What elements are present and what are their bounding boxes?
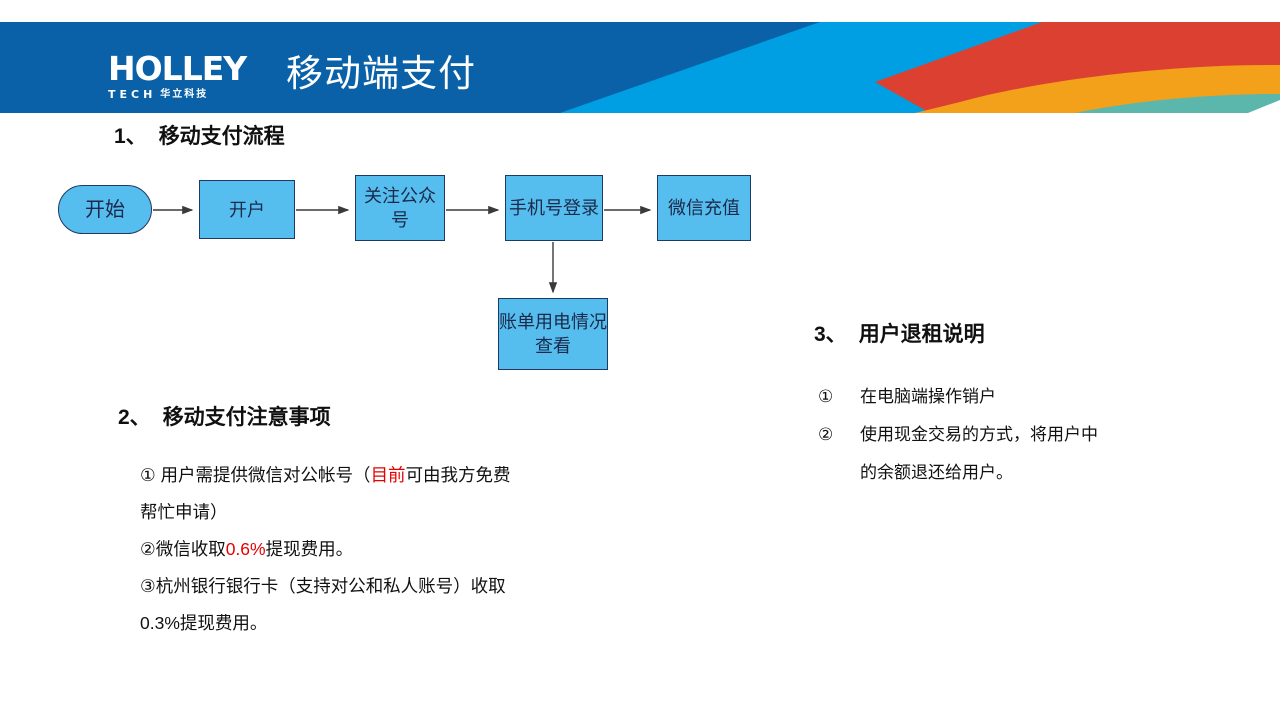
flow-node-phone-login[interactable]: 手机号登录 xyxy=(505,175,603,241)
logo-tech-text: TECH xyxy=(108,89,156,101)
page-title: 移动端支付 xyxy=(286,43,476,97)
flow-node-bill-usage-view[interactable]: 账单用电情况查看 xyxy=(498,298,608,370)
note-2-part-b: 提现费用。 xyxy=(266,539,354,559)
flow-node-follow-official-account[interactable]: 关注公众号 xyxy=(355,175,445,241)
flow-node-wechat-topup[interactable]: 微信充值 xyxy=(657,175,751,241)
note-1-part-a: ① 用户需提供微信对公帐号（ xyxy=(140,465,371,485)
flow-node-start[interactable]: 开始 xyxy=(58,185,152,234)
note-item-3-continued: 0.3%提现费用。 xyxy=(140,605,700,642)
section-2-title: 移动支付注意事项 xyxy=(163,406,331,429)
refund-item-2-marker: ② xyxy=(818,416,860,454)
refund-item-1: ① 在电脑端操作销户 xyxy=(818,378,1238,416)
refund-item-2: ② 使用现金交易的方式，将用户中 xyxy=(818,416,1238,454)
section-heading-3: 3、用户退租说明 xyxy=(814,318,985,348)
logo-chinese-text: 华立科技 xyxy=(160,89,208,101)
holley-logo: HOLLEY TECH 华立科技 xyxy=(108,52,268,108)
note-item-1: ① 用户需提供微信对公帐号（目前可由我方免费 xyxy=(140,457,700,494)
note-item-1-continued: 帮忙申请） xyxy=(140,494,700,531)
refund-instructions-list: ① 在电脑端操作销户 ② 使用现金交易的方式，将用户中 的余额退还给用户。 xyxy=(818,378,1238,492)
payment-notes-list: ① 用户需提供微信对公帐号（目前可由我方免费 帮忙申请） ②微信收取0.6%提现… xyxy=(140,457,700,642)
note-1-part-b: 可由我方免费 xyxy=(406,465,511,485)
refund-item-2-text: 使用现金交易的方式，将用户中 xyxy=(860,416,1238,454)
flow-node-open-account[interactable]: 开户 xyxy=(199,180,295,239)
logo-wordmark: HOLLEY xyxy=(108,52,268,86)
refund-item-1-marker: ① xyxy=(818,378,860,416)
note-2-highlight: 0.6% xyxy=(226,539,266,559)
refund-item-2-continued-row: 的余额退还给用户。 xyxy=(818,454,1238,492)
section-heading-2: 2、移动支付注意事项 xyxy=(118,401,331,431)
section-2-number: 2、 xyxy=(118,406,151,429)
refund-item-2-continued: 的余额退还给用户。 xyxy=(860,454,1238,492)
note-1-highlight: 目前 xyxy=(371,465,406,485)
note-2-part-a: ②微信收取 xyxy=(140,539,226,559)
note-item-2: ②微信收取0.6%提现费用。 xyxy=(140,531,700,568)
logo-subtitle: TECH 华立科技 xyxy=(108,88,268,102)
refund-item-1-text: 在电脑端操作销户 xyxy=(860,378,1238,416)
note-item-3: ③杭州银行银行卡（支持对公和私人账号）收取 xyxy=(140,568,700,605)
section-3-title: 用户退租说明 xyxy=(859,323,985,346)
section-3-number: 3、 xyxy=(814,323,847,346)
